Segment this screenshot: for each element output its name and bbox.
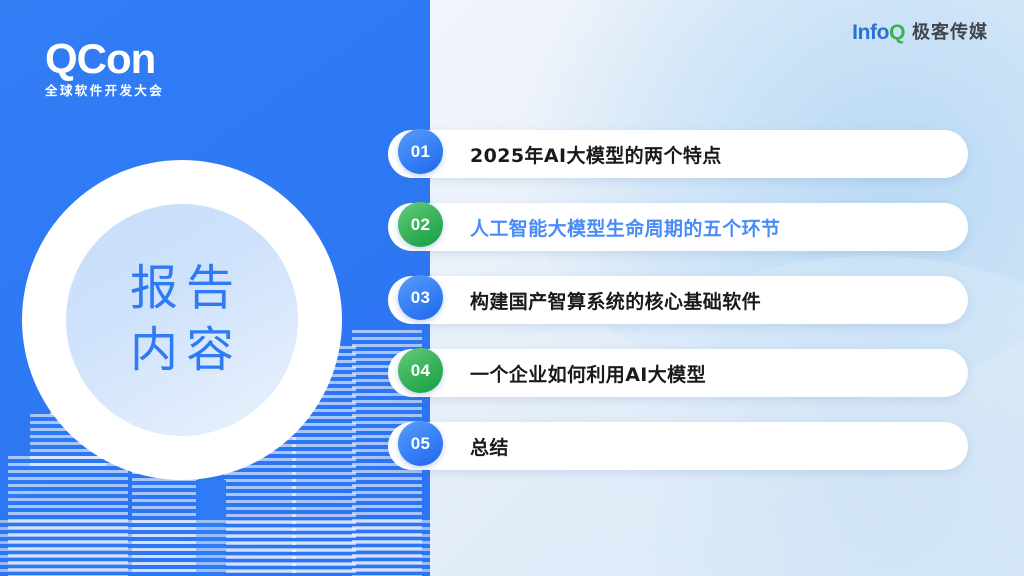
infoq-chinese-name: 极客传媒	[912, 24, 988, 42]
qcon-logo: QCon 全球软件开发大会	[45, 38, 164, 98]
agenda-number-badge: 01	[398, 129, 443, 174]
agenda-item-03[interactable]: 03 构建国产智算系统的核心基础软件	[388, 276, 968, 324]
circle-title-line-2: 内容	[122, 320, 242, 382]
agenda-item-label: 人工智能大模型生命周期的五个环节	[470, 203, 780, 251]
agenda-item-label: 总结	[470, 422, 509, 470]
report-contents-circle: 报告 内容	[22, 160, 342, 480]
infoq-info-text: Info	[852, 21, 889, 44]
circle-title-line-1: 报告	[122, 258, 242, 320]
report-contents-circle-inner: 报告 内容	[66, 204, 298, 436]
agenda-item-01[interactable]: 01 2025年AI大模型的两个特点	[388, 130, 968, 178]
agenda-item-05[interactable]: 05 总结	[388, 422, 968, 470]
presentation-slide: QCon 全球软件开发大会 报告 内容 InfoQ 极客传媒 01 2025年A…	[0, 0, 1024, 576]
qcon-wordmark: QCon	[45, 38, 164, 80]
agenda-item-label: 构建国产智算系统的核心基础软件	[470, 276, 761, 324]
agenda-number-badge: 04	[398, 348, 443, 393]
agenda-item-02[interactable]: 02 人工智能大模型生命周期的五个环节	[388, 203, 968, 251]
infoq-brand-logo: InfoQ 极客传媒	[852, 22, 988, 43]
agenda-list: 01 2025年AI大模型的两个特点 02 人工智能大模型生命周期的五个环节 0…	[388, 130, 968, 470]
agenda-item-label: 2025年AI大模型的两个特点	[470, 130, 722, 178]
agenda-number-badge: 03	[398, 275, 443, 320]
agenda-number-badge: 05	[398, 421, 443, 466]
qcon-subtitle: 全球软件开发大会	[45, 85, 164, 98]
agenda-item-04[interactable]: 04 一个企业如何利用AI大模型	[388, 349, 968, 397]
agenda-item-label: 一个企业如何利用AI大模型	[470, 349, 706, 397]
infoq-q-letter: Q	[889, 21, 905, 44]
agenda-number-badge: 02	[398, 202, 443, 247]
infoq-wordmark: InfoQ	[852, 22, 905, 43]
